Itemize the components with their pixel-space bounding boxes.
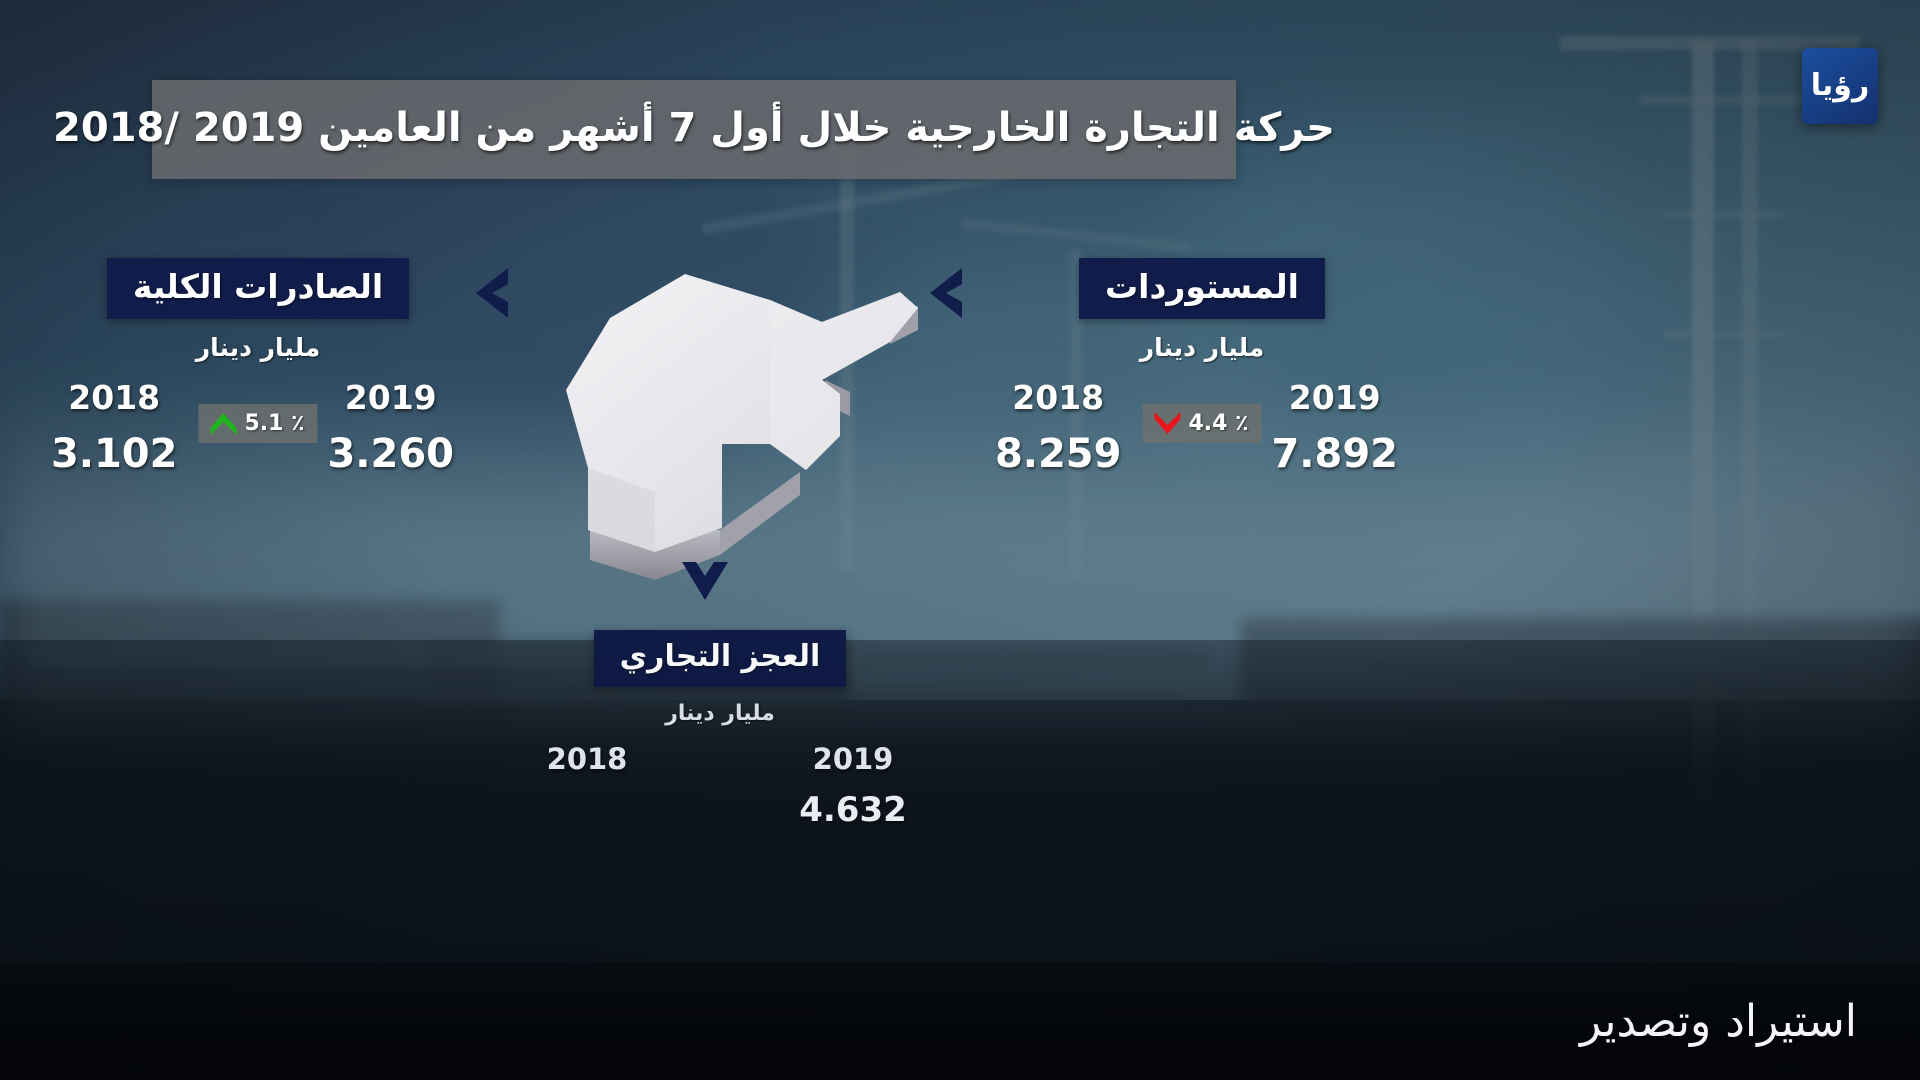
logo-mark: رؤيا	[1811, 71, 1869, 101]
panel-deficit-unit: مليار دينار	[524, 701, 916, 726]
deficit-year-2018: 2018	[524, 742, 650, 776]
panel-deficit-values: 2019 4.632 2018	[524, 742, 916, 830]
chevron-up-icon	[209, 411, 237, 436]
channel-logo: رؤيا	[1802, 48, 1878, 124]
exports-change-badge: 5.1 ٪	[198, 404, 317, 443]
exports-col-2019: 2019 3.260	[327, 378, 454, 477]
page-title: حركة التجارة الخارجية خلال أول 7 أشهر من…	[53, 105, 1335, 155]
imports-col-2018: 2018 8.259	[995, 378, 1122, 477]
panel-exports-label: الصادرات الكلية	[107, 258, 409, 319]
ticker-text: استيراد وتصدير	[0, 996, 1857, 1047]
chevron-left-icon	[920, 262, 982, 328]
panel-exports-unit: مليار دينار	[62, 333, 454, 362]
imports-value-2018: 8.259	[995, 431, 1122, 477]
panel-imports-unit: مليار دينار	[1006, 333, 1398, 362]
chevron-down-icon	[676, 556, 734, 612]
panel-imports-label: المستوردات	[1079, 258, 1325, 319]
deficit-value-2019: 4.632	[790, 790, 916, 830]
deficit-col-2019: 2019 4.632	[790, 742, 916, 830]
imports-change-badge: 4.4 ٪	[1142, 404, 1261, 443]
imports-change-value: 4.4 ٪	[1188, 411, 1248, 436]
exports-year-2019: 2019	[327, 378, 454, 417]
panel-exports-values: 2019 3.260 2018 3.102 5.1 ٪	[62, 378, 454, 477]
title-bar: حركة التجارة الخارجية خلال أول 7 أشهر من…	[152, 80, 1236, 179]
exports-change-value: 5.1 ٪	[244, 411, 304, 436]
panel-deficit-label: العجز التجاري	[594, 630, 847, 687]
imports-value-2019: 7.892	[1271, 431, 1398, 477]
panel-imports: المستوردات مليار دينار 2019 7.892 2018 8…	[1006, 258, 1398, 477]
imports-year-2019: 2019	[1271, 378, 1398, 417]
chevron-down-icon	[1153, 411, 1181, 436]
chevron-left-icon	[466, 262, 528, 328]
exports-value-2018: 3.102	[51, 431, 178, 477]
exports-year-2018: 2018	[51, 378, 178, 417]
news-ticker-bar: استيراد وتصدير	[0, 962, 1920, 1080]
imports-col-2019: 2019 7.892	[1271, 378, 1398, 477]
imports-year-2018: 2018	[995, 378, 1122, 417]
deficit-year-2019: 2019	[790, 742, 916, 776]
panel-trade-deficit: العجز التجاري مليار دينار 2019 4.632 201…	[524, 630, 916, 830]
exports-value-2019: 3.260	[327, 431, 454, 477]
exports-col-2018: 2018 3.102	[51, 378, 178, 477]
panel-imports-values: 2019 7.892 2018 8.259 4.4 ٪	[1006, 378, 1398, 477]
panel-total-exports: الصادرات الكلية مليار دينار 2019 3.260 2…	[62, 258, 454, 477]
jordan-map-icon	[470, 230, 930, 590]
deficit-col-2018: 2018	[524, 742, 650, 830]
